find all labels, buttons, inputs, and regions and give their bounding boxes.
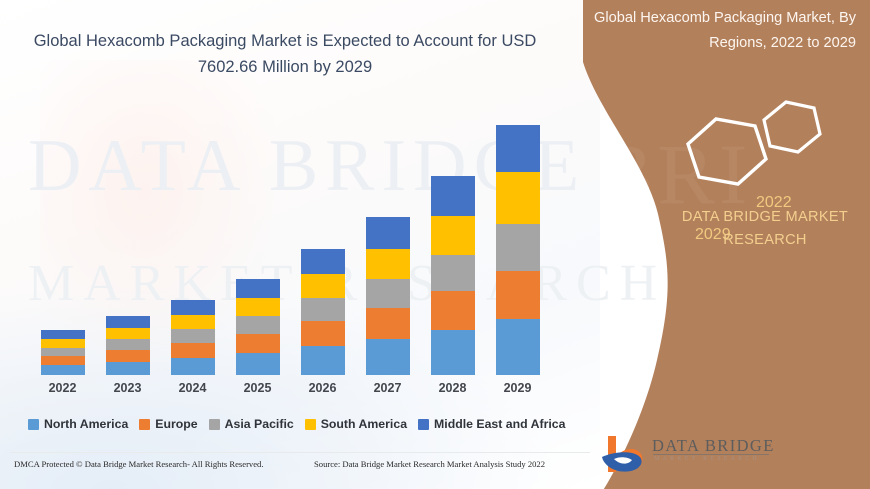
infographic-canvas: DATA BRIDGE MARKET RESEARCH Global Hexac… [0, 0, 870, 489]
logo-wordmark: DATA BRIDGE [652, 436, 775, 456]
logo-tagline: MARKET RESEARCH [654, 456, 760, 462]
brand-panel: BRI Global Hexacomb Packaging Market, By… [0, 0, 870, 489]
hexagon-logo-group: 2022 2029 [660, 86, 870, 196]
hexagon-2029-icon [688, 119, 766, 184]
logo-underline [653, 454, 769, 455]
brand-name-text: DATA BRIDGE MARKET RESEARCH [665, 206, 865, 252]
bridge-mark-icon [600, 432, 652, 478]
hexagon-2022-icon [764, 102, 820, 152]
brand-panel-title: Global Hexacomb Packaging Market, By Reg… [556, 6, 856, 56]
data-bridge-logo: DATA BRIDGE MARKET RESEARCH [600, 432, 850, 480]
hexagon-icons [660, 86, 870, 196]
